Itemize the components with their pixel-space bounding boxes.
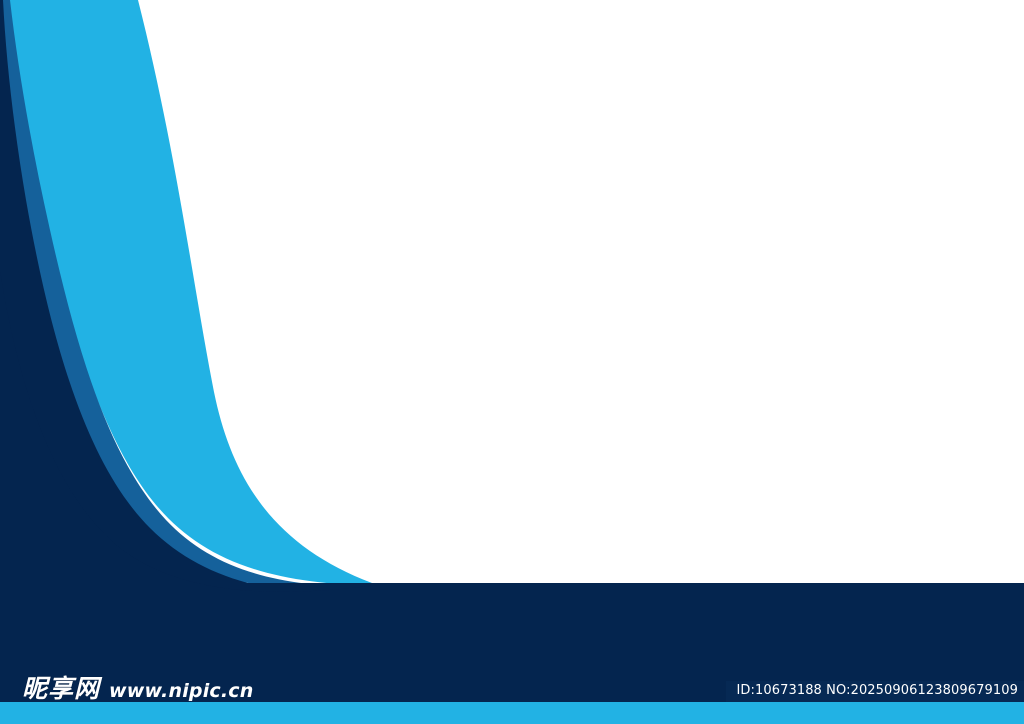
bottom-accent-strip: [0, 702, 1024, 724]
page-canvas: 昵享网 www.nipic.cn ID:10673188 NO:20250906…: [0, 0, 1024, 724]
background-artwork: [0, 0, 1024, 724]
